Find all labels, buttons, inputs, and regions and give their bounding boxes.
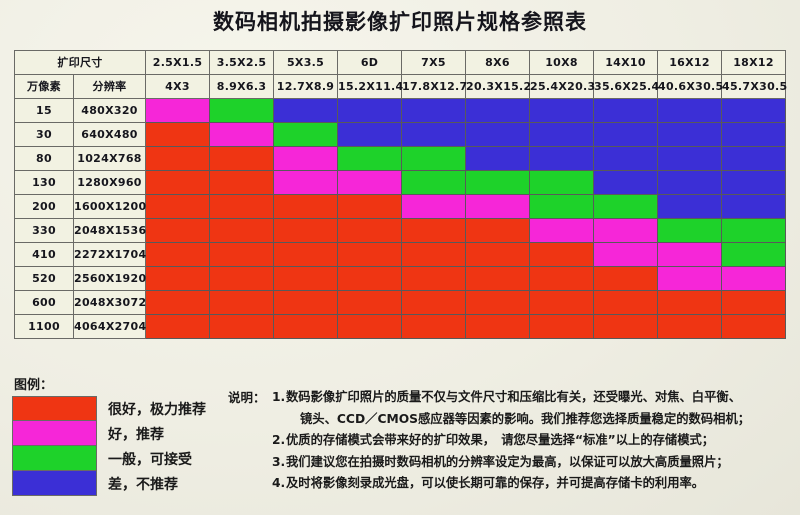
rating-cell [210,315,274,339]
note-body: 优质的存储模式会带来好的扩印效果， 请您尽量选择“标准”以上的存储模式； [286,430,714,452]
rating-cell [530,315,594,339]
rating-cell [210,243,274,267]
rating-cell [210,99,274,123]
header-size-9: 18X12 [722,51,786,75]
legend-item: 很好，极力推荐 [12,396,227,421]
table-row: 30640X480 [15,123,786,147]
rating-cell [146,171,210,195]
legend-rows: 很好，极力推荐好，推荐一般，可接受差，不推荐 [12,396,227,496]
header-size-8: 16X12 [658,51,722,75]
rating-cell [146,195,210,219]
rating-cell [274,195,338,219]
rating-cell [658,171,722,195]
note-line: 我们建议您在拍摄时数码相机的分辨率设定为最高，以保证可以放大高质量照片； [286,452,729,474]
rating-cell [274,99,338,123]
row-megapixels: 600 [15,291,74,315]
poster-root: 数码相机拍摄影像扩印照片规格参照表 扩印尺寸 2.5X1.5 3.5X2.5 5… [0,0,800,515]
rating-cell [722,267,786,291]
table-row: 801024X768 [15,147,786,171]
rating-cell [338,315,402,339]
rating-cell [530,171,594,195]
rating-cell [274,171,338,195]
rating-cell [146,267,210,291]
rating-cell [338,267,402,291]
note-item: 2.优质的存储模式会带来好的扩印效果， 请您尽量选择“标准”以上的存储模式； [272,430,794,452]
rating-cell [338,243,402,267]
rating-cell [466,123,530,147]
rating-cell [658,315,722,339]
header-row-dims: 万像素 分辨率 4X3 8.9X6.3 12.7X8.9 15.2X11.4 1… [15,75,786,99]
rating-cell [466,291,530,315]
rating-cell [146,219,210,243]
header-size-3: 6D [338,51,402,75]
notes-heading: 说明： [228,387,266,406]
legend-item: 差，不推荐 [12,471,227,496]
notes-list: 1.数码影像扩印照片的质量不仅与文件尺寸和压缩比有关，还受曝光、对焦、白平衡、镜… [272,387,794,495]
header-size-0: 2.5X1.5 [146,51,210,75]
table-row: 1301280X960 [15,171,786,195]
rating-cell [530,267,594,291]
row-megapixels: 15 [15,99,74,123]
rating-cell [658,147,722,171]
rating-cell [146,147,210,171]
table-row: 11004064X2704 [15,315,786,339]
rating-cell [722,147,786,171]
rating-cell [210,195,274,219]
row-resolution: 1600X1200 [74,195,146,219]
row-megapixels: 330 [15,219,74,243]
note-item: 3.我们建议您在拍摄时数码相机的分辨率设定为最高，以保证可以放大高质量照片； [272,452,794,474]
table-body: 15480X32030640X480801024X7681301280X9602… [15,99,786,339]
rating-cell [338,171,402,195]
rating-cell [402,195,466,219]
rating-cell [594,147,658,171]
rating-cell [402,99,466,123]
rating-cell [466,195,530,219]
rating-cell [274,243,338,267]
rating-cell [146,291,210,315]
legend-swatch-m [12,421,97,446]
header-dim-0: 4X3 [146,75,210,99]
rating-cell [530,291,594,315]
header-size-1: 3.5X2.5 [210,51,274,75]
note-line: 镜头、CCD／CMOS感应器等因素的影响。我们推荐您选择质量稳定的数码相机； [300,409,750,431]
note-line: 及时将影像刻录成光盘，可以使长期可靠的保存，并可提高存储卡的利用率。 [286,473,704,495]
header-size-5: 8X6 [466,51,530,75]
table-header: 扩印尺寸 2.5X1.5 3.5X2.5 5X3.5 6D 7X5 8X6 10… [15,51,786,99]
rating-cell [146,123,210,147]
rating-cell [210,267,274,291]
rating-cell [402,219,466,243]
header-dim-3: 15.2X11.4 [338,75,402,99]
page-title: 数码相机拍摄影像扩印照片规格参照表 [0,6,800,36]
table-row: 3302048X1536 [15,219,786,243]
rating-cell [402,315,466,339]
legend-label: 差，不推荐 [108,474,178,494]
rating-cell [146,315,210,339]
rating-cell [658,123,722,147]
row-megapixels: 410 [15,243,74,267]
legend-label: 一般，可接受 [108,449,192,469]
legend-swatch-g [12,446,97,471]
rating-cell [146,99,210,123]
rating-cell [210,147,274,171]
header-dim-1: 8.9X6.3 [210,75,274,99]
rating-cell [210,123,274,147]
rating-cell [530,99,594,123]
header-megapixels: 万像素 [15,75,74,99]
row-megapixels: 200 [15,195,74,219]
row-megapixels: 30 [15,123,74,147]
rating-cell [338,99,402,123]
note-line: 数码影像扩印照片的质量不仅与文件尺寸和压缩比有关，还受曝光、对焦、白平衡、 [286,387,750,409]
header-size-7: 14X10 [594,51,658,75]
header-row-sizes: 扩印尺寸 2.5X1.5 3.5X2.5 5X3.5 6D 7X5 8X6 10… [15,51,786,75]
legend-label: 很好，极力推荐 [108,399,206,419]
rating-cell [722,171,786,195]
rating-cell [402,267,466,291]
rating-cell [722,195,786,219]
row-resolution: 1280X960 [74,171,146,195]
rating-cell [338,123,402,147]
legend-item: 好，推荐 [12,421,227,446]
rating-cell [338,195,402,219]
note-body: 我们建议您在拍摄时数码相机的分辨率设定为最高，以保证可以放大高质量照片； [286,452,729,474]
table-row: 2001600X1200 [15,195,786,219]
legend-swatch-r [12,396,97,421]
rating-cell [274,147,338,171]
rating-cell [594,291,658,315]
legend: 图例： 很好，极力推荐好，推荐一般，可接受差，不推荐 [12,374,227,496]
rating-cell [530,219,594,243]
rating-cell [466,267,530,291]
table-row: 4102272X1704 [15,243,786,267]
rating-cell [658,219,722,243]
rating-cell [658,99,722,123]
rating-cell [722,315,786,339]
rating-cell [338,147,402,171]
note-number: 3. [272,452,286,474]
row-resolution: 2048X1536 [74,219,146,243]
rating-cell [274,291,338,315]
header-dim-7: 35.6X25.4 [594,75,658,99]
header-size-4: 7X5 [402,51,466,75]
rating-cell [658,243,722,267]
rating-cell [530,123,594,147]
legend-swatch-b [12,471,97,496]
rating-cell [594,171,658,195]
note-item: 1.数码影像扩印照片的质量不仅与文件尺寸和压缩比有关，还受曝光、对焦、白平衡、镜… [272,387,794,430]
rating-cell [466,99,530,123]
rating-cell [338,219,402,243]
row-megapixels: 1100 [15,315,74,339]
rating-cell [594,123,658,147]
rating-cell [722,291,786,315]
rating-cell [210,291,274,315]
row-resolution: 2272X1704 [74,243,146,267]
rating-cell [466,147,530,171]
rating-cell [594,219,658,243]
rating-cell [722,243,786,267]
header-size-6: 10X8 [530,51,594,75]
row-megapixels: 80 [15,147,74,171]
note-body: 及时将影像刻录成光盘，可以使长期可靠的保存，并可提高存储卡的利用率。 [286,473,704,495]
rating-cell [722,123,786,147]
rating-cell [338,291,402,315]
table-row: 15480X320 [15,99,786,123]
note-number: 2. [272,430,286,452]
note-body: 数码影像扩印照片的质量不仅与文件尺寸和压缩比有关，还受曝光、对焦、白平衡、镜头、… [286,387,750,430]
rating-cell [658,291,722,315]
rating-cell [402,243,466,267]
rating-cell [722,99,786,123]
rating-cell [466,315,530,339]
table-row: 6002048X3072 [15,291,786,315]
rating-cell [594,243,658,267]
rating-cell [466,171,530,195]
rating-cell [402,123,466,147]
note-number: 1. [272,387,286,430]
row-megapixels: 520 [15,267,74,291]
row-resolution: 2560X1920 [74,267,146,291]
rating-cell [146,243,210,267]
rating-cell [722,219,786,243]
rating-cell [274,219,338,243]
rating-cell [402,291,466,315]
row-resolution: 4064X2704 [74,315,146,339]
rating-cell [530,243,594,267]
rating-cell [594,99,658,123]
rating-cell [530,147,594,171]
rating-cell [466,243,530,267]
rating-cell [274,267,338,291]
note-item: 4.及时将影像刻录成光盘，可以使长期可靠的保存，并可提高存储卡的利用率。 [272,473,794,495]
rating-cell [594,267,658,291]
legend-item: 一般，可接受 [12,446,227,471]
row-resolution: 1024X768 [74,147,146,171]
header-dim-4: 17.8X12.7 [402,75,466,99]
header-dim-2: 12.7X8.9 [274,75,338,99]
header-print-size: 扩印尺寸 [15,51,146,75]
header-dim-9: 45.7X30.5 [722,75,786,99]
rating-cell [594,195,658,219]
header-dim-6: 25.4X20.3 [530,75,594,99]
row-resolution: 480X320 [74,99,146,123]
rating-cell [210,219,274,243]
rating-cell [658,267,722,291]
header-dim-5: 20.3X15.2 [466,75,530,99]
table-row: 5202560X1920 [15,267,786,291]
note-number: 4. [272,473,286,495]
legend-label: 好，推荐 [108,424,164,444]
rating-cell [274,315,338,339]
row-resolution: 2048X3072 [74,291,146,315]
rating-cell [210,171,274,195]
header-dim-8: 40.6X30.5 [658,75,722,99]
rating-cell [402,147,466,171]
row-resolution: 640X480 [74,123,146,147]
rating-cell [274,123,338,147]
rating-cell [402,171,466,195]
rating-cell [658,195,722,219]
header-resolution: 分辨率 [74,75,146,99]
rating-cell [466,219,530,243]
rating-cell [594,315,658,339]
rating-cell [530,195,594,219]
header-size-2: 5X3.5 [274,51,338,75]
spec-table: 扩印尺寸 2.5X1.5 3.5X2.5 5X3.5 6D 7X5 8X6 10… [14,50,786,339]
note-line: 优质的存储模式会带来好的扩印效果， 请您尽量选择“标准”以上的存储模式； [286,430,714,452]
legend-heading: 图例： [14,374,227,393]
row-megapixels: 130 [15,171,74,195]
